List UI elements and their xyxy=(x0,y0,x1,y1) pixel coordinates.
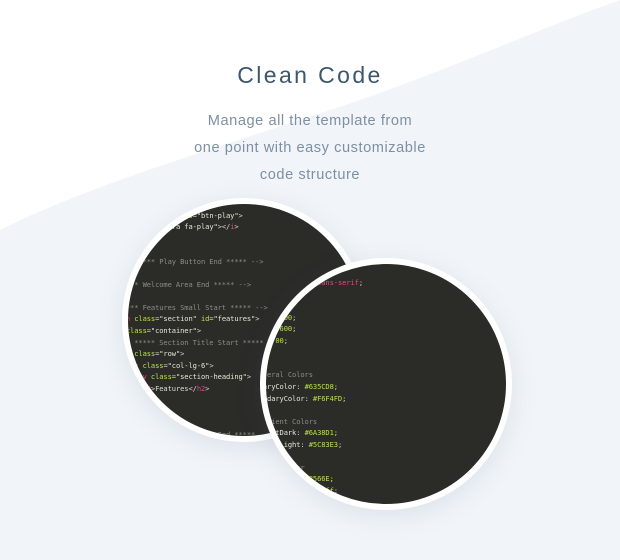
subtitle-line-3: code structure xyxy=(0,162,620,189)
html-code-block: ... <a href="#" class="btn-play"> <i cla… xyxy=(122,198,280,442)
clean-code-section: Clean Code Manage all the template from … xyxy=(0,0,620,560)
header: Clean Code Manage all the template from … xyxy=(0,0,620,189)
page-title: Clean Code xyxy=(0,62,620,89)
subtitle-line-1: Manage all the template from xyxy=(0,108,620,135)
scss-code-block: @import url('https://fonts.googleapis.co… xyxy=(260,258,512,510)
subtitle-line-2: one point with easy customizable xyxy=(0,135,620,162)
page-subtitle: Manage all the template from one point w… xyxy=(0,108,620,189)
scss-code-circle: 1 2 3 4 5 6 7 8 9 10 11 12 13 14 15 16 1… xyxy=(260,258,512,510)
